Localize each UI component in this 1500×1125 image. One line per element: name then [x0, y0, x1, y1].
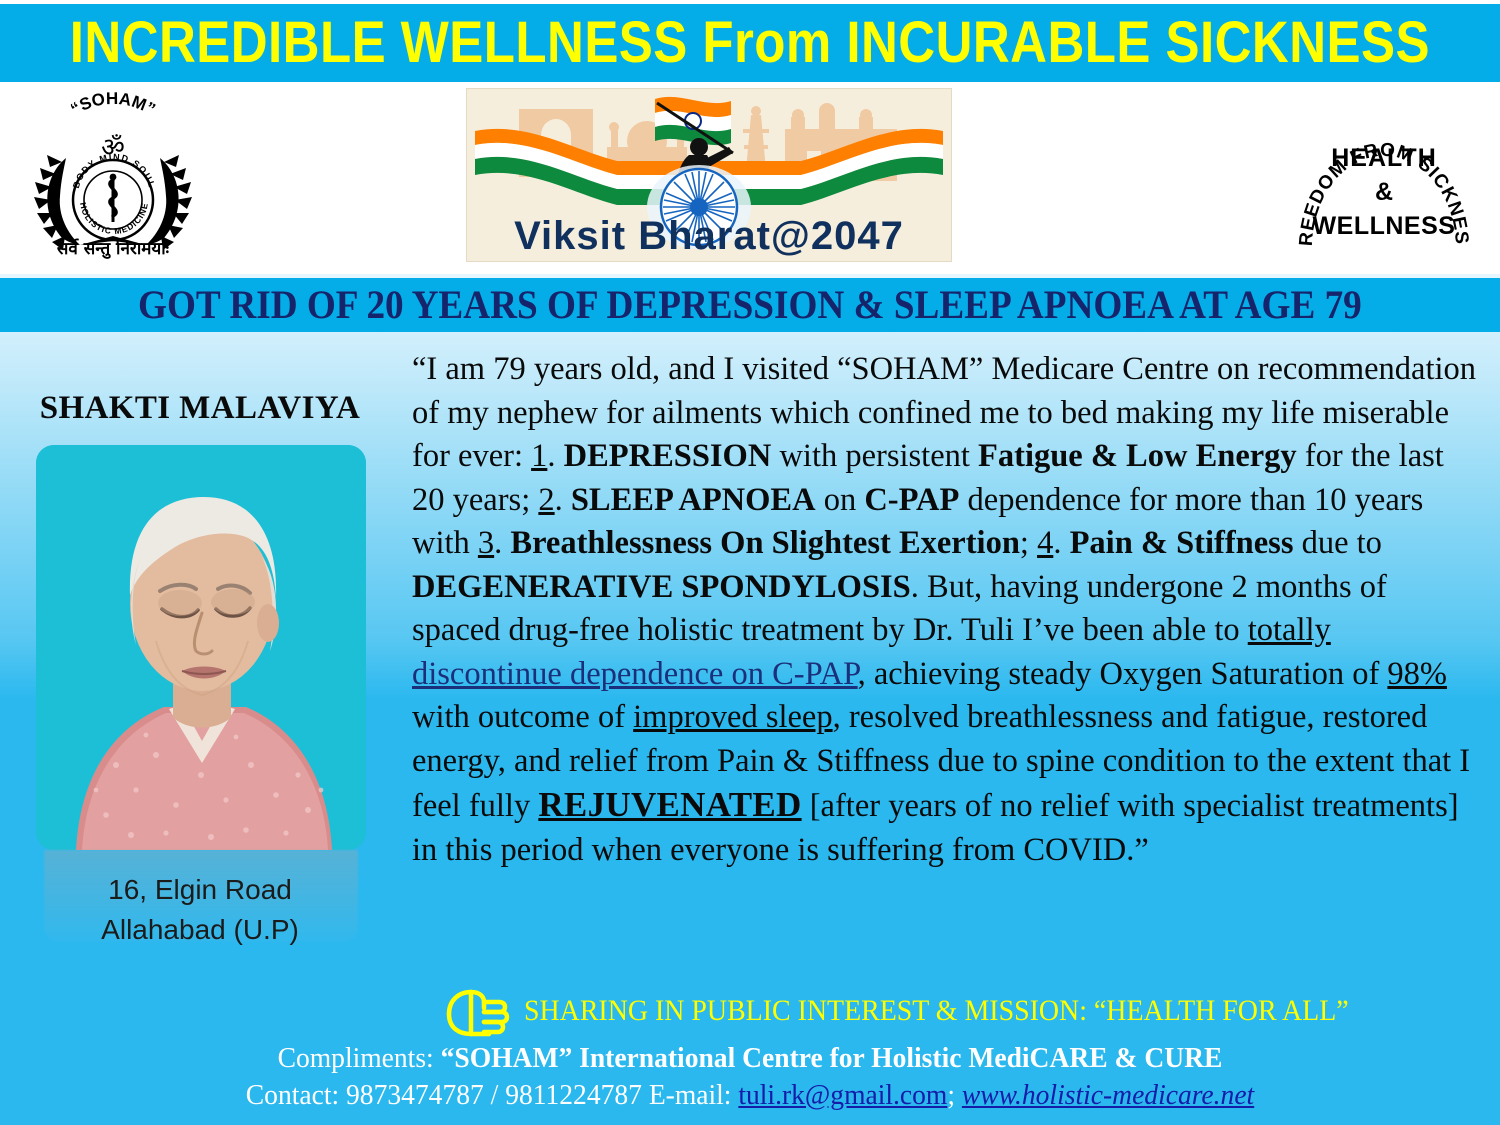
- testimonial-part-8: .: [494, 525, 510, 561]
- testimonial-part-14: , achieving steady Oxygen Saturation of: [858, 656, 1388, 692]
- testimonial-text: “I am 79 years old, and I visited “SOHAM…: [412, 348, 1477, 872]
- oxygen-saturation-value: 98%: [1387, 656, 1447, 692]
- device-cpap: C-PAP: [864, 482, 959, 518]
- diagnosis-spondylosis: DEGENERATIVE SPONDYLOSIS: [412, 569, 911, 605]
- organisation-name: “SOHAM” International Centre for Holisti…: [441, 1042, 1223, 1074]
- patient-address: 16, Elgin Road Allahabad (U.P): [0, 870, 400, 950]
- patient-column: SHAKTI MALAVIYA: [0, 332, 400, 992]
- emphasis-totally: totally: [1248, 612, 1331, 648]
- address-line-2: Allahabad (U.P): [0, 910, 400, 950]
- subtitle-text: GOT RID OF 20 YEARS OF DEPRESSION & SLEE…: [138, 284, 1362, 326]
- svg-text:HEALTH: HEALTH: [1331, 144, 1437, 172]
- poster: INCREDIBLE WELLNESS From INCURABLE SICKN…: [0, 0, 1500, 1125]
- footer-separator: ;: [947, 1079, 962, 1111]
- svg-text:WELLNESS: WELLNESS: [1313, 212, 1456, 240]
- footer-compliments-line: Compliments: “SOHAM” International Centr…: [38, 1040, 1463, 1076]
- ailment-3: Breathlessness On Slightest Exertion: [510, 525, 1020, 561]
- page-title: INCREDIBLE WELLNESS From INCURABLE SICKN…: [70, 14, 1430, 72]
- testimonial-part-6: on: [816, 482, 865, 518]
- patient-photo: [36, 445, 366, 850]
- testimonial-part-10: .: [1053, 525, 1069, 561]
- testimonial-part-2: .: [547, 438, 563, 474]
- svg-text:&: &: [1375, 178, 1393, 206]
- pointing-hand-icon: [437, 984, 523, 1040]
- symptom-fatigue: Fatigue & Low Energy: [978, 438, 1297, 474]
- outcome-improved-sleep: improved sleep: [633, 699, 832, 735]
- address-line-1: 16, Elgin Road: [0, 870, 400, 910]
- sharing-message: SHARING IN PUBLIC INTEREST & MISSION: “H…: [524, 994, 1349, 1028]
- patient-name: SHAKTI MALAVIYA: [0, 390, 400, 427]
- sharing-row: SHARING IN PUBLIC INTEREST & MISSION: “H…: [0, 988, 1500, 1038]
- ailment-number-1: 1: [531, 438, 547, 474]
- ailment-number-4: 4: [1037, 525, 1053, 561]
- email-label: E-mail:: [642, 1079, 738, 1111]
- footer: Compliments: “SOHAM” International Centr…: [0, 1040, 1500, 1125]
- contact-label: Contact:: [246, 1079, 346, 1111]
- outcome-rejuvenated: REJUVENATED: [538, 785, 801, 824]
- patient-portrait: [36, 445, 366, 850]
- testimonial-part-15: with outcome of: [412, 699, 633, 735]
- testimonial-part-11: due to: [1293, 525, 1381, 561]
- outcome-discontinue-cpap: discontinue dependence on C-PAP: [412, 656, 858, 692]
- subtitle-band: GOT RID OF 20 YEARS OF DEPRESSION & SLEE…: [0, 278, 1500, 332]
- ailment-4: Pain & Stiffness: [1070, 525, 1294, 561]
- testimonial-part-9: ;: [1020, 525, 1037, 561]
- ailment-number-3: 3: [478, 525, 494, 561]
- email-link[interactable]: tuli.rk@gmail.com: [738, 1079, 947, 1111]
- ailment-1: DEPRESSION: [564, 438, 772, 474]
- testimonial-part-5: .: [555, 482, 571, 518]
- svg-text:“SOHAM”: “SOHAM”: [67, 89, 158, 119]
- header-band: INCREDIBLE WELLNESS From INCURABLE SICKN…: [0, 4, 1500, 82]
- soham-sanskrit-motto: सर्वे सन्तु निरामयाः: [18, 236, 208, 259]
- footer-contact-line: Contact: 9873474787 / 9811224787 E-mail:…: [38, 1076, 1463, 1114]
- content-area: SHAKTI MALAVIYA: [0, 332, 1500, 992]
- testimonial-part-3: with persistent: [771, 438, 978, 474]
- viksit-bharat-label: Viksit Bharat@2047: [467, 214, 951, 259]
- freedom-from-sickness-logo: FREEDOM FROM SICKNESS HEALTH & WELLNESS: [1294, 88, 1474, 263]
- compliments-label: Compliments:: [278, 1042, 441, 1074]
- ailment-2: SLEEP APNOEA: [571, 482, 816, 518]
- logo-row: “SOHAM” ॐ: [0, 84, 1500, 274]
- contact-phones: 9873474787 / 9811224787: [346, 1079, 642, 1111]
- ailment-number-2: 2: [538, 482, 554, 518]
- website-link[interactable]: www.holistic-medicare.net: [962, 1079, 1254, 1111]
- viksit-bharat-banner: Viksit Bharat@2047: [466, 88, 952, 262]
- soham-logo: “SOHAM” ॐ: [18, 88, 208, 268]
